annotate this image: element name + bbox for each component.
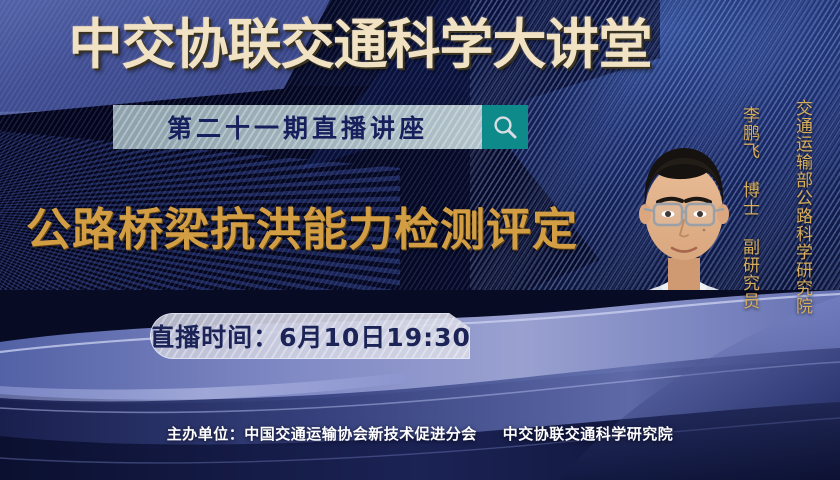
footer-institute-label: 中交协联交通科学研究院 <box>503 425 674 443</box>
episode-band: 第二十一期直播讲座 <box>113 105 528 149</box>
episode-band-body: 第二十一期直播讲座 <box>113 105 482 149</box>
speaker-organization: 交通运输部公路科学研究院 <box>790 99 815 315</box>
search-icon <box>492 114 518 140</box>
webinar-poster: 中交协联交通科学大讲堂 第二十一期直播讲座 公路桥梁抗洪能力检测评定 直播时间：… <box>0 0 840 480</box>
page-title: 中交协联交通科学大讲堂 <box>0 14 720 76</box>
broadcast-time-label: 直播时间：6月10日19:30 <box>150 318 470 354</box>
episode-label: 第二十一期直播讲座 <box>167 109 428 145</box>
broadcast-time-pill: 直播时间：6月10日19:30 <box>150 313 470 359</box>
footer-organizer-label: 主办单位：中国交通运输协会新技术促进分会 <box>167 425 477 443</box>
topic-title: 公路桥梁抗洪能力检测评定 <box>26 203 578 257</box>
speaker-name-title: 李鹏飞 博士 副研究员 <box>737 106 762 310</box>
footer: 主办单位：中国交通运输协会新技术促进分会中交协联交通科学研究院 <box>0 423 840 444</box>
search-button[interactable] <box>482 105 528 149</box>
